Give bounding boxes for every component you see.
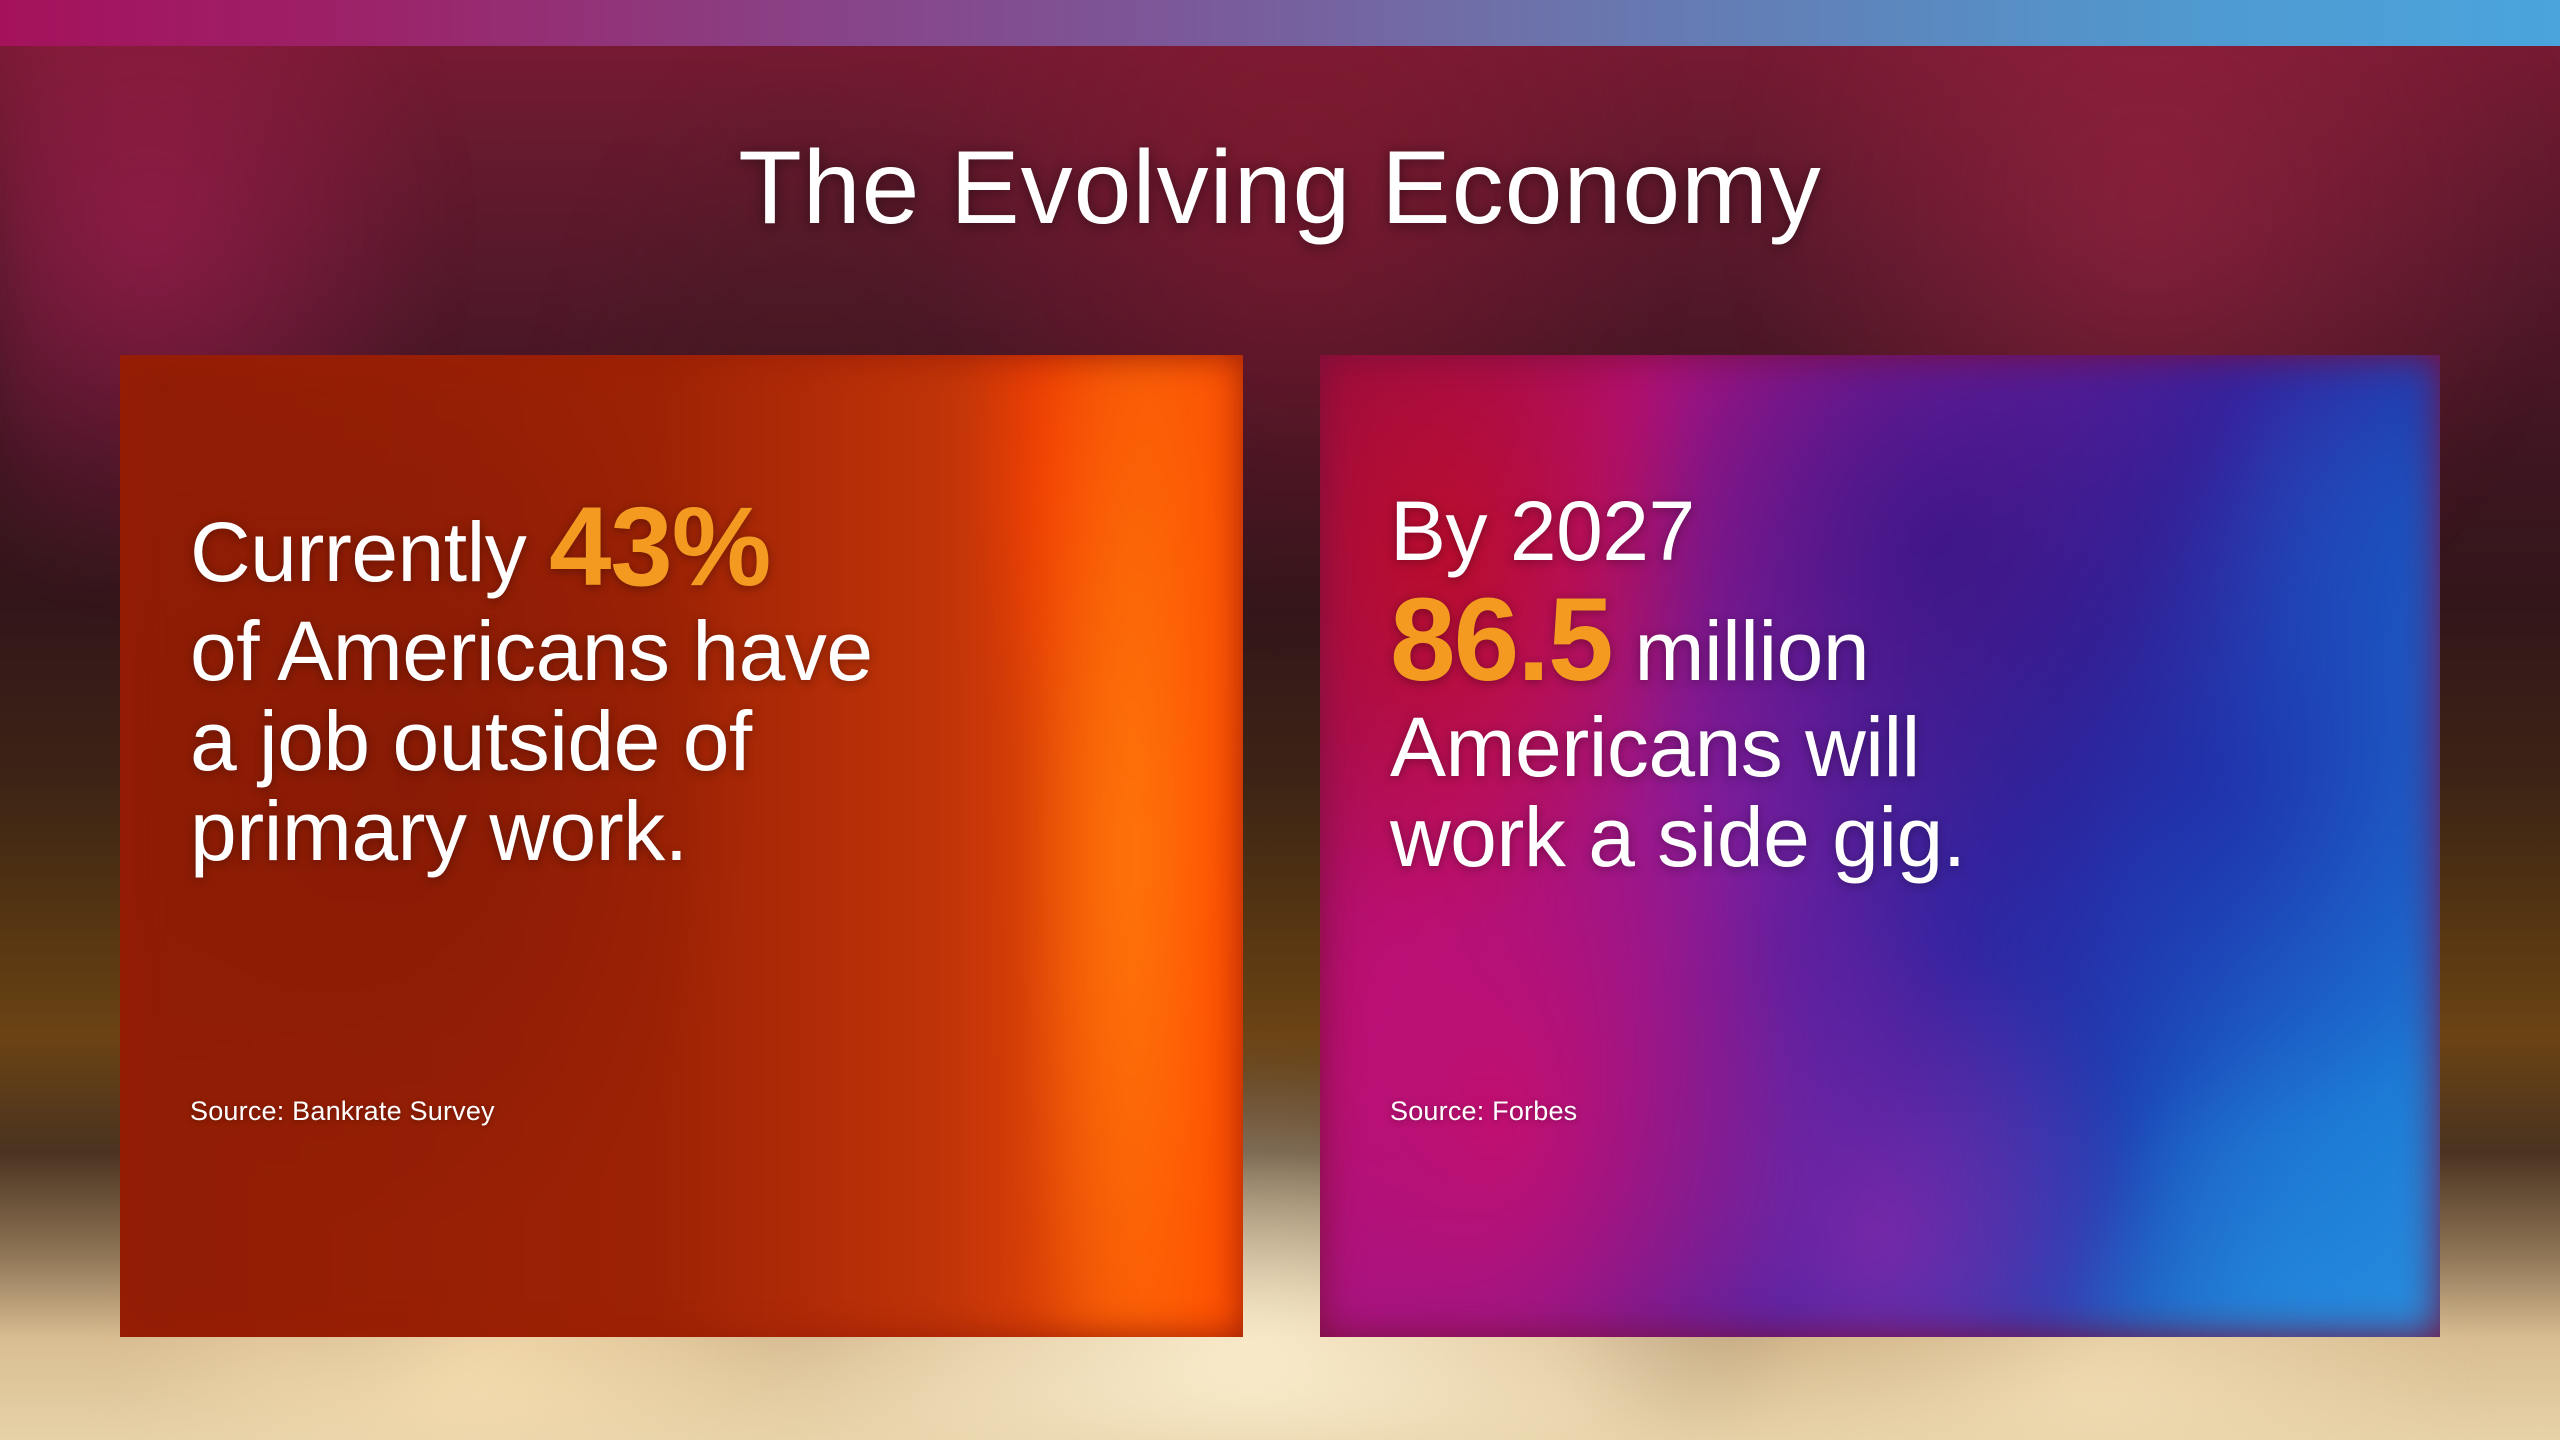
stat-card-text: Currently 43% of Americans have a job ou…	[190, 487, 1243, 876]
stat-line-4: work a side gig.	[1390, 793, 2440, 883]
stat-card-text: By 2027 86.5 million Americans will work…	[1390, 487, 2440, 883]
stat-card-by-2027-86-5-million: By 2027 86.5 million Americans will work…	[1320, 355, 2440, 1337]
stat-line-2: of Americans have	[190, 607, 1243, 697]
page-title: The Evolving Economy	[0, 134, 2560, 243]
stat-line-3: Americans will	[1390, 703, 2440, 793]
stat-line-4: primary work.	[190, 787, 1243, 877]
stat-line-2: 86.5 million	[1390, 577, 2440, 703]
infographic-slide: The Evolving Economy Currently 43% of Am…	[0, 0, 2560, 1440]
stat-line-1: Currently 43%	[190, 487, 1243, 607]
stat-line-1: By 2027	[1390, 487, 2440, 577]
stat-line-3: a job outside of	[190, 697, 1243, 787]
source-label-bankrate: Source: Bankrate Survey	[190, 1096, 495, 1127]
stat-card-currently-43-percent: Currently 43% of Americans have a job ou…	[120, 355, 1243, 1337]
stat-highlight-43-percent: 43%	[549, 484, 770, 609]
stat-highlight-86-5: 86.5	[1390, 574, 1612, 706]
stat-line-2-suffix: million	[1612, 604, 1869, 698]
source-label-forbes: Source: Forbes	[1390, 1096, 1577, 1127]
stat-line-1-prefix: Currently	[190, 505, 549, 599]
top-gradient-strip	[0, 0, 2560, 46]
